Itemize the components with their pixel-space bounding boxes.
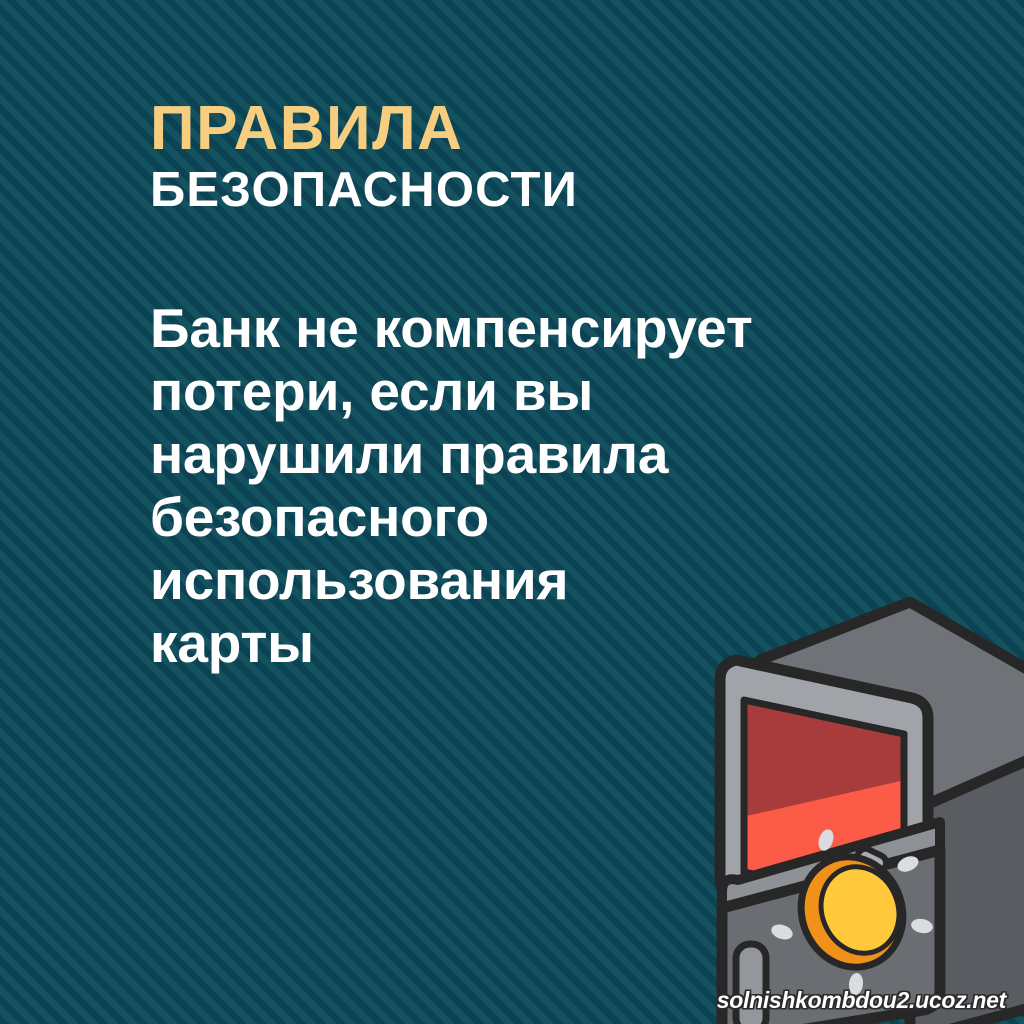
body-line: Банк не компенсирует: [150, 297, 840, 360]
page-subtitle: БЕЗОПАСНОСТИ: [150, 162, 910, 218]
open-safe-illustration: [660, 560, 1024, 1024]
page-title: ПРАВИЛА: [150, 96, 910, 162]
body-line: нарушили правила: [150, 423, 840, 486]
poster-canvas: ПРАВИЛА БЕЗОПАСНОСТИ Банк не компенсируе…: [0, 0, 1024, 1024]
body-line: безопасного: [150, 486, 840, 549]
headline-block: ПРАВИЛА БЕЗОПАСНОСТИ: [150, 96, 910, 218]
body-line: потери, если вы: [150, 360, 840, 423]
watermark: solnishkombdou2.ucoz.net: [717, 987, 1006, 1014]
open-safe-icon: [660, 560, 1024, 1024]
